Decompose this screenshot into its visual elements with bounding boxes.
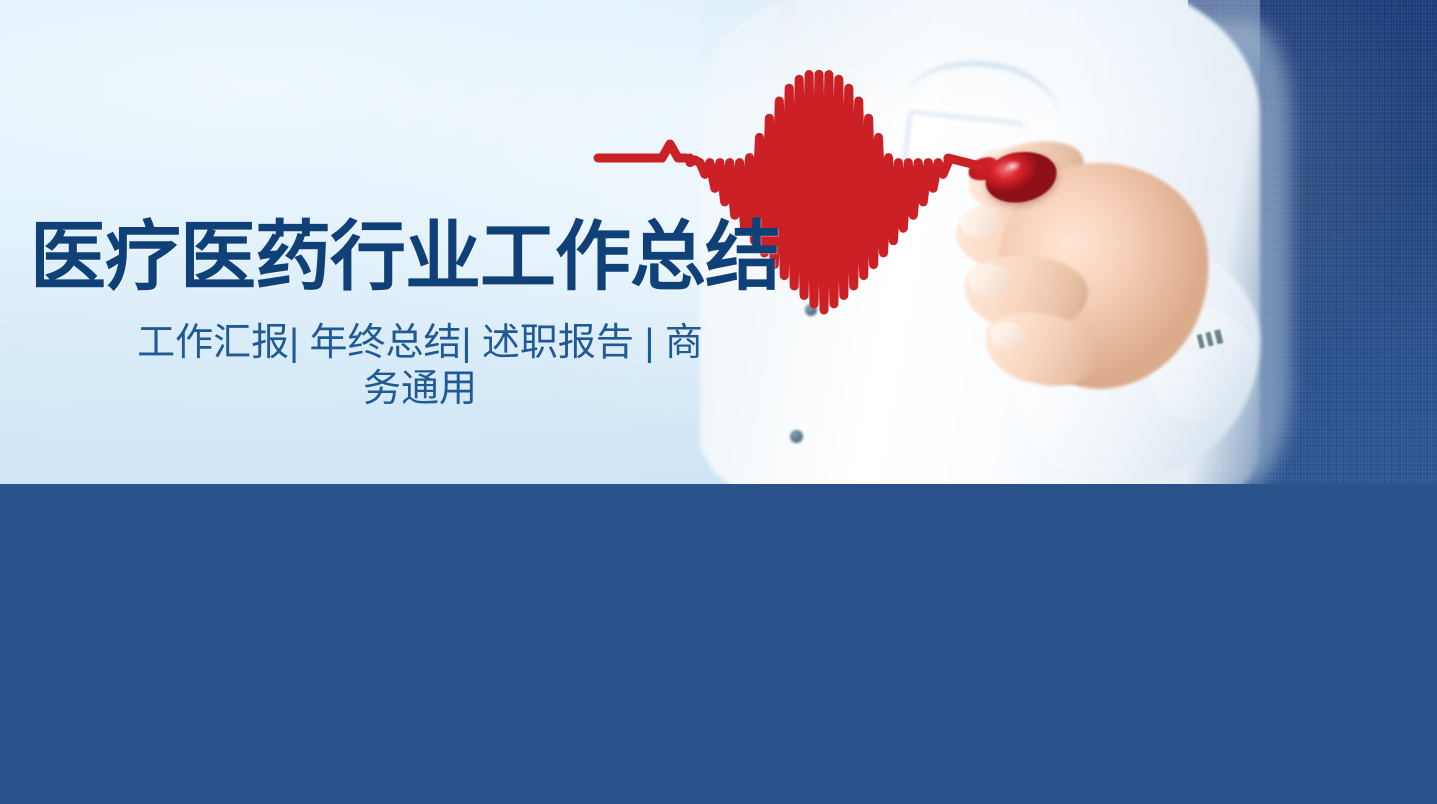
presentation-slide: 医疗医药行业工作总结 工作汇报| 年终总结| 述职报告 | 商务通用	[0, 0, 1437, 804]
bottom-blue-band	[0, 484, 1437, 804]
page-title: 医疗医药行业工作总结	[30, 214, 770, 302]
page-subtitle: 工作汇报| 年终总结| 述职报告 | 商务通用	[120, 320, 720, 412]
hero-photo-band: 医疗医药行业工作总结 工作汇报| 年终总结| 述职报告 | 商务通用	[0, 0, 1437, 484]
